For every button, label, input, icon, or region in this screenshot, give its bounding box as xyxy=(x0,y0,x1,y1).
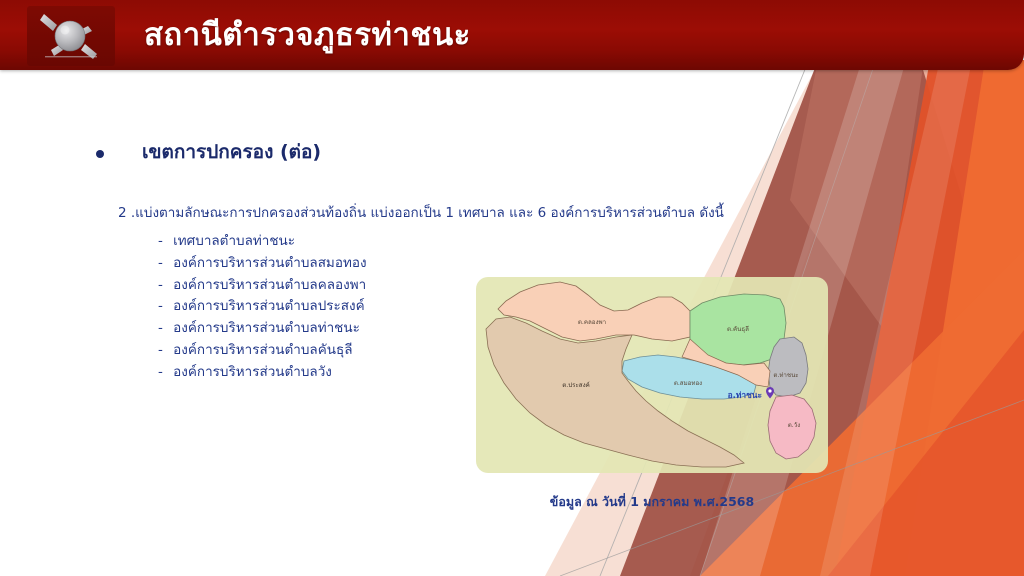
section-heading: เขตการปกครอง (ต่อ) xyxy=(96,141,321,164)
list-item: - องค์การบริหารส่วนตำบลคลองพา xyxy=(158,275,367,297)
bullet-dot-icon xyxy=(96,150,104,158)
slide-canvas: สถานีตำรวจภูธรท่าชนะ เขตการปกครอง (ต่อ) … xyxy=(0,0,1024,576)
map-label-khan-thuli: ต.คันธุลี xyxy=(727,325,749,333)
map-label-tha-chana-tambon: ต.ท่าชนะ xyxy=(773,372,798,379)
list-dash: - xyxy=(158,342,163,358)
police-mace-emblem-icon xyxy=(27,6,115,66)
list-item: - องค์การบริหารส่วนตำบลคันธุลี xyxy=(158,340,367,362)
section-heading-label: เขตการปกครอง (ต่อ) xyxy=(142,141,321,164)
slide-content: เขตการปกครอง (ต่อ) 2 .แบ่งตามลักษณะการปก… xyxy=(0,0,1024,576)
list-item-label: องค์การบริหารส่วนตำบลท่าชนะ xyxy=(173,320,360,336)
map-district-marker-label: อ.ท่าชนะ xyxy=(728,390,762,400)
map-label-prasong: ต.ประสงค์ xyxy=(562,381,590,389)
map-label-khlong-pha: ต.คลองพา xyxy=(578,319,606,326)
list-item-label: องค์การบริหารส่วนตำบลคันธุลี xyxy=(173,342,352,358)
list-item-label: องค์การบริหารส่วนตำบลประสงค์ xyxy=(173,298,364,314)
local-administration-list: - เทศบาลตำบลท่าชนะ - องค์การบริหารส่วนตำ… xyxy=(158,231,367,384)
map-pin-icon xyxy=(766,387,774,399)
list-dash: - xyxy=(158,255,163,271)
intro-paragraph: 2 .แบ่งตามลักษณะการปกครองส่วนท้องถิ่น แบ… xyxy=(118,205,724,223)
district-map-figure: ต.คลองพา ต.คันธุลี ต.ประสงค์ ต.สมอทอง ต.… xyxy=(476,277,828,473)
list-item-label: องค์การบริหารส่วนตำบลวัง xyxy=(173,364,332,380)
list-item-label: องค์การบริหารส่วนตำบลสมอทอง xyxy=(173,255,366,271)
list-item: - เทศบาลตำบลท่าชนะ xyxy=(158,231,367,253)
list-item-label: เทศบาลตำบลท่าชนะ xyxy=(173,233,295,249)
list-item: - องค์การบริหารส่วนตำบลวัง xyxy=(158,362,367,384)
map-label-wang: ต.วัง xyxy=(788,422,800,429)
map-caption: ข้อมูล ณ วันที่ 1 มกราคม พ.ศ.2568 xyxy=(476,492,828,512)
list-dash: - xyxy=(158,277,163,293)
emblem-svg xyxy=(27,6,115,66)
list-dash: - xyxy=(158,233,163,249)
district-map-svg: ต.คลองพา ต.คันธุลี ต.ประสงค์ ต.สมอทอง ต.… xyxy=(476,277,828,473)
list-item: - องค์การบริหารส่วนตำบลประสงค์ xyxy=(158,296,367,318)
list-dash: - xyxy=(158,364,163,380)
list-dash: - xyxy=(158,298,163,314)
header-bar: สถานีตำรวจภูธรท่าชนะ xyxy=(0,0,1024,70)
list-dash: - xyxy=(158,320,163,336)
map-label-samo-thong: ต.สมอทอง xyxy=(674,380,702,387)
page-title: สถานีตำรวจภูธรท่าชนะ xyxy=(144,18,471,52)
list-item: - องค์การบริหารส่วนตำบลสมอทอง xyxy=(158,253,367,275)
list-item: - องค์การบริหารส่วนตำบลท่าชนะ xyxy=(158,318,367,340)
list-item-label: องค์การบริหารส่วนตำบลคลองพา xyxy=(173,277,366,293)
